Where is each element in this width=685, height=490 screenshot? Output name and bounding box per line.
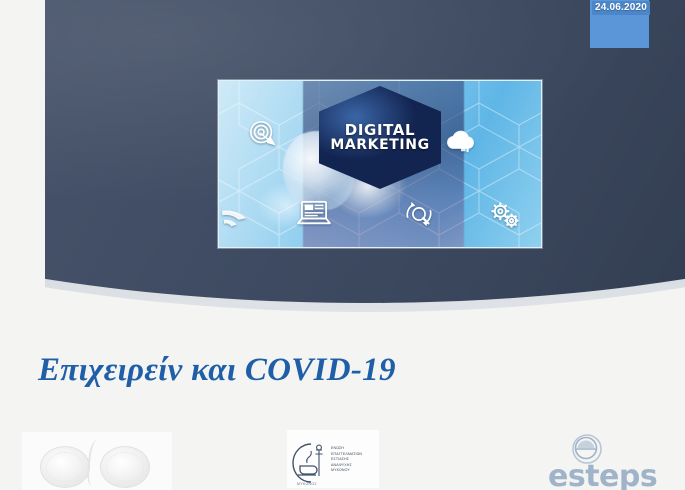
esteps-logo: esteps	[548, 430, 668, 490]
search-analytics-icon	[403, 199, 435, 229]
union-logo: ΕΝΩΣΗ ΕΠΑΓΓΕΛΜΑΤΙΩΝ ΕΣΤΙΑΣΗΣ ΑΝΑΨΥΧΗΣ ΜΥ…	[287, 430, 379, 488]
wifi-signal-icon	[222, 207, 250, 231]
coin-right-texture	[106, 452, 144, 482]
cloud-upload-icon	[444, 127, 478, 155]
coins-logo	[22, 432, 172, 490]
laptop-icon	[296, 199, 332, 227]
date-badge-label: 24.06.2020	[592, 1, 650, 15]
union-footer-text: ΜΥΚΟΝΟΣ	[297, 482, 317, 486]
coin-right	[100, 446, 150, 488]
digital-marketing-hex-label: DIGITAL MARKETING	[319, 86, 441, 189]
presentation-slide: 24.06.2020	[0, 0, 685, 490]
coin-left	[40, 446, 90, 488]
headline-line-1: DIGITAL	[345, 123, 415, 138]
union-line-5: ΜΥΚΟΝΟΥ	[331, 468, 377, 474]
hero-image: DIGITAL MARKETING	[218, 80, 542, 248]
gears-icon	[489, 201, 521, 229]
union-logo-text: ΕΝΩΣΗ ΕΠΑΓΓΕΛΜΑΤΙΩΝ ΕΣΤΙΑΣΗΣ ΑΝΑΨΥΧΗΣ ΜΥ…	[331, 446, 377, 474]
esteps-wordmark: esteps	[548, 462, 657, 490]
logo-row: ΕΝΩΣΗ ΕΠΑΓΓΕΛΜΑΤΙΩΝ ΕΣΤΙΑΣΗΣ ΑΝΑΨΥΧΗΣ ΜΥ…	[0, 428, 685, 490]
headline-line-2: MARKETING	[330, 138, 429, 152]
union-emblem-icon	[291, 442, 331, 484]
target-icon	[248, 119, 278, 149]
page-title: Επιχειρείν και COVID-19	[38, 352, 396, 389]
coin-left-texture	[46, 452, 84, 482]
